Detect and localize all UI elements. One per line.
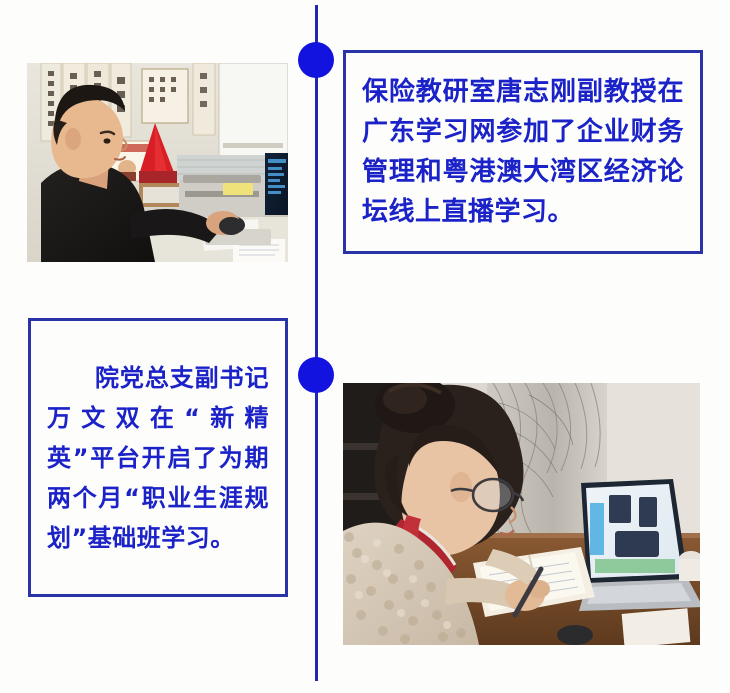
timeline-line (315, 5, 318, 681)
entry-2-text-card: 院党总支副书记万文双在“新精英”平台开启了为期两个月“职业生涯规划”基础班学习。 (28, 318, 288, 597)
photo-woman-studying (343, 383, 700, 645)
photo-woman-studying-graphic (343, 383, 700, 645)
infographic-canvas: 保险教研室唐志刚副教授在广东学习网参加了企业财务管理和粤港澳大湾区经济论坛线上直… (0, 0, 730, 693)
timeline-dot-2 (298, 357, 334, 393)
entry-1-text-card: 保险教研室唐志刚副教授在广东学习网参加了企业财务管理和粤港澳大湾区经济论坛线上直… (343, 50, 703, 254)
timeline-dot-1 (298, 42, 334, 78)
entry-1-text: 保险教研室唐志刚副教授在广东学习网参加了企业财务管理和粤港澳大湾区经济论坛线上直… (362, 72, 684, 232)
photo-man-at-desk (27, 63, 288, 262)
photo-man-at-desk-graphic (27, 63, 288, 262)
entry-2-text: 院党总支副书记万文双在“新精英”平台开启了为期两个月“职业生涯规划”基础班学习。 (47, 358, 269, 558)
